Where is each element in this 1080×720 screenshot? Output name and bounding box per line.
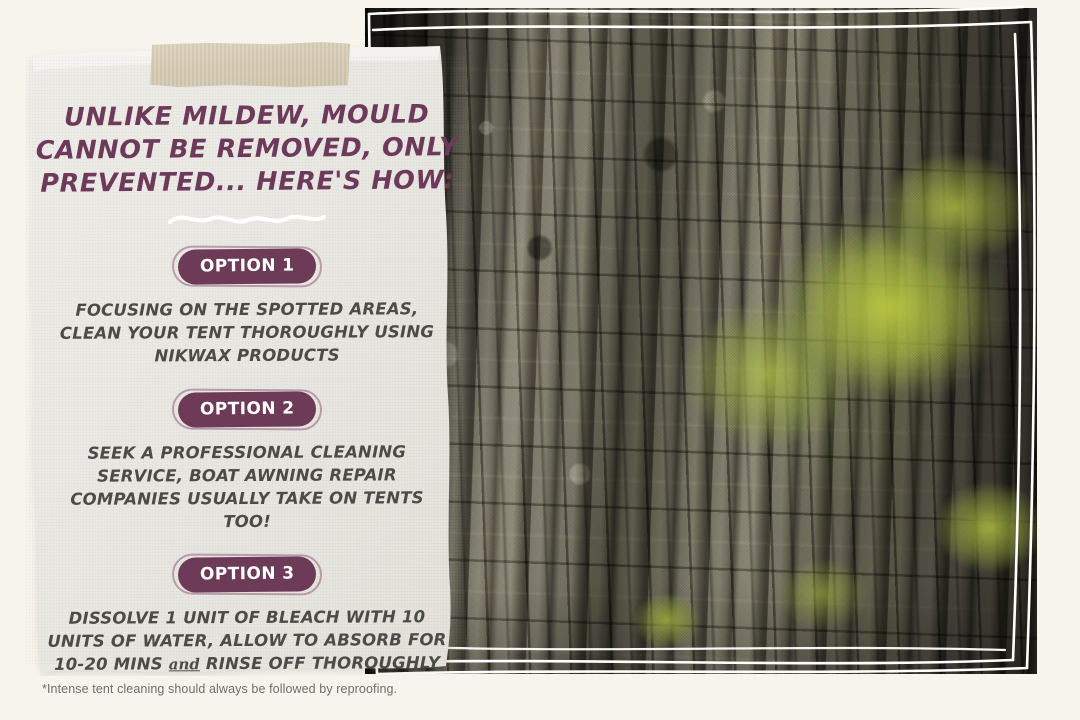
poster-canvas: UNLIKE MILDEW, MOULD CANNOT BE REMOVED, … xyxy=(0,0,1080,720)
option-1-text: Focusing on the spotted areas, clean you… xyxy=(47,298,447,369)
option-1-badge-label: OPTION 1 xyxy=(200,256,295,277)
option-3-text-after: rinse off thoroughly xyxy=(200,653,440,673)
option-3-text-emphasis: and xyxy=(169,655,200,673)
page-title: UNLIKE MILDEW, MOULD CANNOT BE REMOVED, … xyxy=(28,98,467,201)
option-2-badge-label: OPTION 2 xyxy=(200,398,295,419)
option-2-text: Seek a professional cleaning service, bo… xyxy=(47,440,447,534)
option-3-text: Dissolve 1 unit of bleach with 10 units … xyxy=(47,605,447,676)
option-block-1: OPTION 1 Focusing on the spotted areas, … xyxy=(28,249,466,367)
paper-content: UNLIKE MILDEW, MOULD CANNOT BE REMOVED, … xyxy=(28,56,466,666)
option-block-3: OPTION 3 Dissolve 1 unit of bleach with … xyxy=(28,557,466,675)
footnote: *Intense tent cleaning should always be … xyxy=(42,682,397,696)
option-block-2: OPTION 2 Seek a professional cleaning se… xyxy=(28,392,466,533)
option-3-badge-label: OPTION 3 xyxy=(200,564,295,585)
option-2-badge[interactable]: OPTION 2 xyxy=(178,391,317,427)
wavy-divider-icon xyxy=(167,213,327,227)
option-3-badge[interactable]: OPTION 3 xyxy=(178,556,317,592)
option-1-badge[interactable]: OPTION 1 xyxy=(178,249,317,285)
